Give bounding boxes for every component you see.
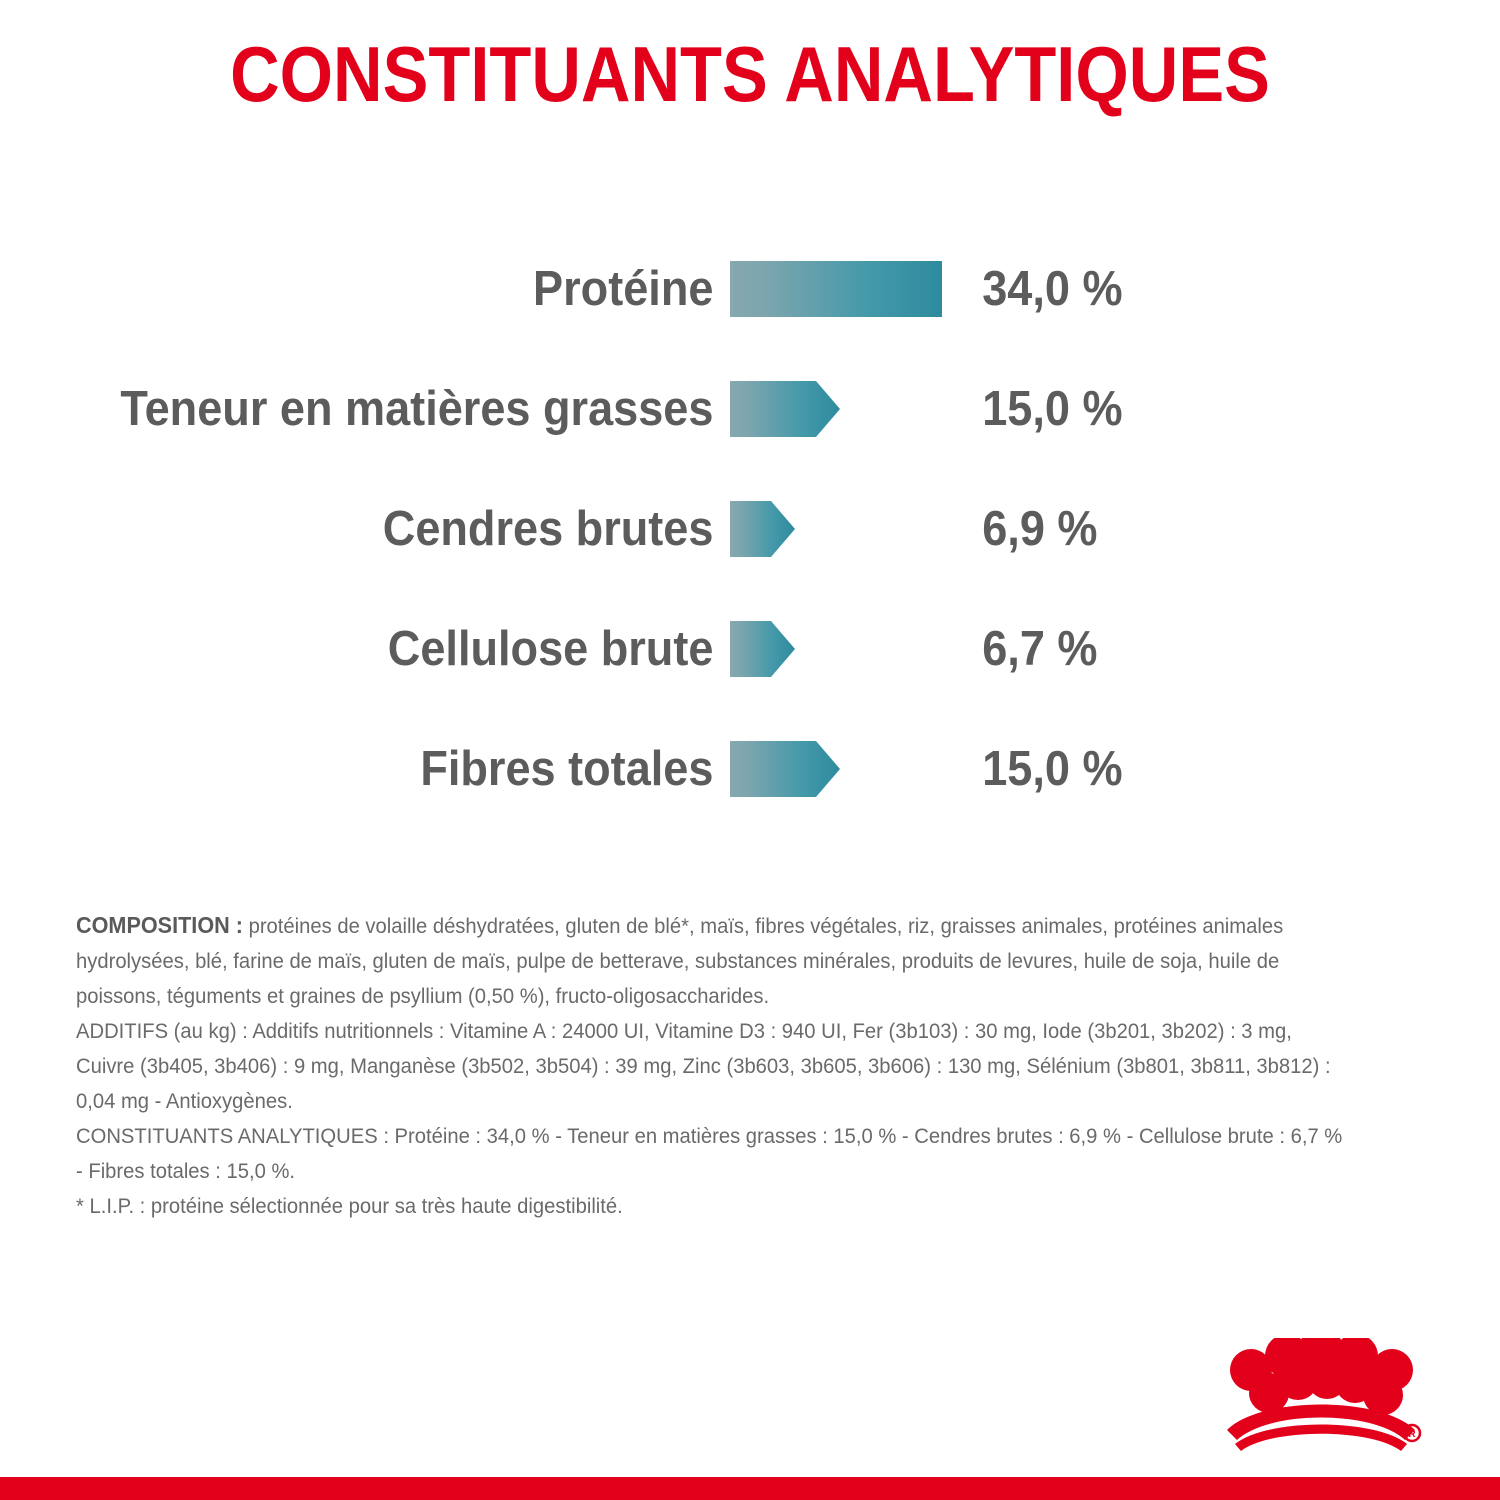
nutrient-bar-fill	[730, 381, 840, 437]
nutrient-bar-track	[730, 741, 962, 797]
lip-footnote: * L.I.P. : protéine sélectionnée pour sa…	[76, 1189, 1345, 1224]
nutrient-bar-fill	[730, 621, 795, 677]
nutrient-row: Fibres totales 15,0 %	[0, 738, 1500, 800]
nutrient-bar-track	[730, 261, 962, 317]
composition-paragraph: COMPOSITION : protéines de volaille désh…	[76, 908, 1345, 1014]
nutrient-label: Cellulose brute	[58, 618, 730, 680]
composition-heading: COMPOSITION :	[76, 912, 243, 938]
nutrient-row: Cellulose brute 6,7 %	[0, 618, 1500, 680]
analytical-constituents-paragraph: CONSTITUANTS ANALYTIQUES : Protéine : 34…	[76, 1119, 1345, 1189]
nutrient-bar-fill	[730, 501, 795, 557]
nutrient-row: Teneur en matières grasses 15,0 %	[0, 378, 1500, 440]
svg-text:R: R	[1408, 1429, 1416, 1440]
nutrient-label: Fibres totales	[58, 738, 730, 800]
page-title: CONSTITUANTS ANALYTIQUES	[90, 34, 1410, 116]
nutrient-bar-track	[730, 621, 962, 677]
composition-block: COMPOSITION : protéines de volaille désh…	[76, 908, 1345, 1224]
nutrient-bar-track	[730, 381, 962, 437]
nutrient-bar-fill	[730, 741, 840, 797]
nutrient-value: 34,0 %	[962, 258, 1123, 320]
nutrient-label: Teneur en matières grasses	[58, 378, 730, 440]
nutrient-value: 15,0 %	[962, 738, 1123, 800]
nutrient-bar-fill	[730, 261, 942, 317]
nutrient-row: Cendres brutes 6,9 %	[0, 498, 1500, 560]
nutrient-label: Protéine	[58, 258, 730, 320]
additives-paragraph: ADDITIFS (au kg) : Additifs nutritionnel…	[76, 1014, 1345, 1119]
nutrient-value: 6,9 %	[962, 498, 1098, 560]
nutrient-bar-track	[730, 501, 962, 557]
nutrient-value: 6,7 %	[962, 618, 1098, 680]
nutrient-row: Protéine 34,0 %	[0, 258, 1500, 320]
analytical-constituents-chart: Protéine 34,0 % Teneur en matières grass…	[0, 258, 1500, 800]
nutrient-value: 15,0 %	[962, 378, 1123, 440]
royal-canin-crown-logo: R	[1213, 1338, 1429, 1456]
nutrient-label: Cendres brutes	[58, 498, 730, 560]
bottom-red-bar	[0, 1477, 1500, 1500]
composition-ingredients: protéines de volaille déshydratées, glut…	[76, 914, 1283, 1008]
